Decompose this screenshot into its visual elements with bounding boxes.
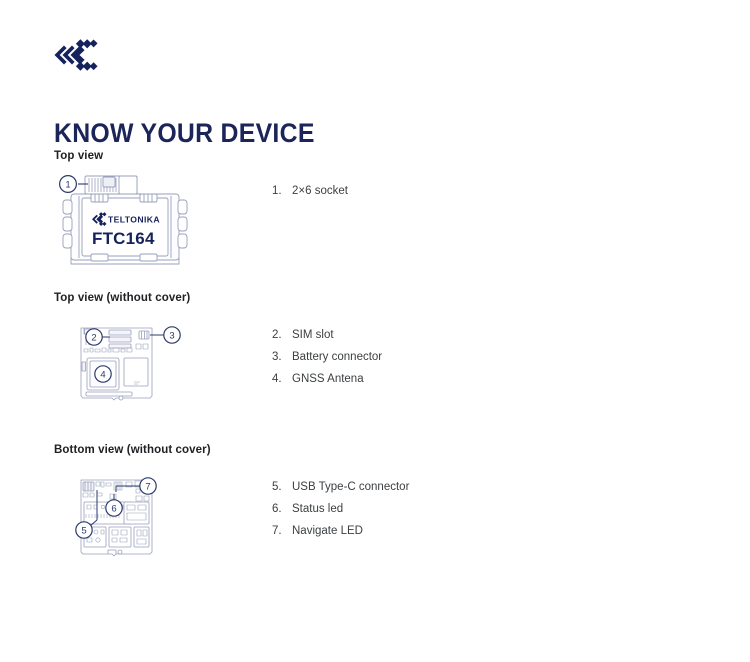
svg-text:5: 5 xyxy=(81,525,86,536)
device-model-label: FTC164 xyxy=(92,229,155,248)
section-heading: Top view xyxy=(54,150,103,162)
list-item-label: 2×6 socket xyxy=(292,184,348,198)
list-item-label: USB Type-C connector xyxy=(292,480,409,494)
svg-text:4: 4 xyxy=(100,369,105,380)
pcb-top-view-diagram: 2 3 4 xyxy=(54,312,254,432)
list-item-number: 1. xyxy=(272,184,292,198)
svg-text:2: 2 xyxy=(91,332,96,343)
svg-text:1: 1 xyxy=(65,179,70,190)
list-item-number: 2. xyxy=(272,328,292,342)
list-item-number: 7. xyxy=(272,524,292,538)
list-item-label: Navigate LED xyxy=(292,524,363,538)
svg-text:7: 7 xyxy=(145,481,150,492)
callout-marker-1: 1 xyxy=(60,176,88,193)
list-item-label: SIM slot xyxy=(292,328,334,342)
svg-text:TELTONIKA: TELTONIKA xyxy=(108,215,160,225)
svg-text:6: 6 xyxy=(111,503,116,514)
device-top-view-diagram: TELTONIKA FTC164 1 xyxy=(54,170,254,280)
document-page: KNOW YOUR DEVICE Top view xyxy=(0,0,750,662)
list-item: 4. GNSS Antena xyxy=(272,372,592,386)
list-item-label: Battery connector xyxy=(292,350,382,364)
list-item-number: 5. xyxy=(272,480,292,494)
callout-list-top-view: 1. 2×6 socket xyxy=(272,184,592,198)
callout-list-top-view-without-cover: 2. SIM slot 3. Battery connector 4. GNSS… xyxy=(272,328,592,394)
list-item-number: 6. xyxy=(272,502,292,516)
list-item-label: GNSS Antena xyxy=(292,372,364,386)
list-item: 3. Battery connector xyxy=(272,350,592,364)
list-item-number: 3. xyxy=(272,350,292,364)
page-title: KNOW YOUR DEVICE xyxy=(54,118,315,148)
callout-marker-3: 3 xyxy=(150,327,180,343)
callout-marker-4: 4 xyxy=(95,366,111,382)
list-item-number: 4. xyxy=(272,372,292,386)
list-item: 2. SIM slot xyxy=(272,328,592,342)
list-item: 7. Navigate LED xyxy=(272,524,592,538)
list-item: 5. USB Type-C connector xyxy=(272,480,592,494)
pcb-bottom-view-diagram: 7 6 5 xyxy=(54,464,254,584)
callout-list-bottom-view-without-cover: 5. USB Type-C connector 6. Status led 7.… xyxy=(272,480,592,546)
teltonika-logo-icon xyxy=(53,38,99,72)
list-item: 1. 2×6 socket xyxy=(272,184,592,198)
section-heading: Bottom view (without cover) xyxy=(54,444,211,456)
section-heading: Top view (without cover) xyxy=(54,292,190,304)
list-item-label: Status led xyxy=(292,502,343,516)
svg-text:3: 3 xyxy=(169,330,174,341)
list-item: 6. Status led xyxy=(272,502,592,516)
